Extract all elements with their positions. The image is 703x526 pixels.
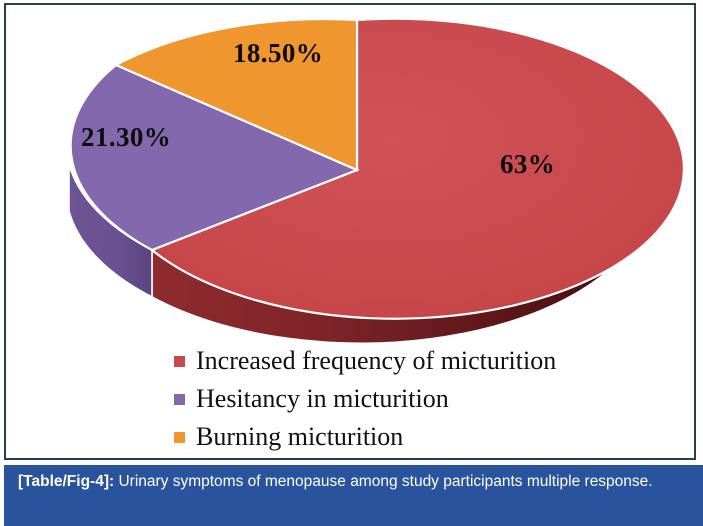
legend-item-increased-frequency[interactable]: Increased frequency of micturition bbox=[174, 342, 644, 380]
legend-label-burning: Burning micturition bbox=[196, 424, 403, 450]
slice-label-hesitancy: 21.30% bbox=[81, 122, 171, 153]
chart-legend: Increased frequency of micturition Hesit… bbox=[174, 342, 644, 456]
legend-label-increased-frequency: Increased frequency of micturition bbox=[196, 348, 556, 374]
legend-swatch-icon-increased-frequency bbox=[174, 356, 185, 367]
figure-caption-bar: [Table/Fig-4]: Urinary symptoms of menop… bbox=[4, 465, 703, 526]
figure-caption: [Table/Fig-4]: Urinary symptoms of menop… bbox=[18, 472, 689, 492]
pie-chart: 63% 21.30% 18.50% bbox=[6, 5, 694, 345]
legend-item-burning[interactable]: Burning micturition bbox=[174, 418, 644, 456]
slice-label-burning: 18.50% bbox=[233, 38, 323, 69]
legend-label-hesitancy: Hesitancy in micturition bbox=[196, 386, 449, 412]
chart-frame: 63% 21.30% 18.50% Increased frequency of… bbox=[4, 3, 696, 460]
figure-caption-body: Urinary symptoms of menopause among stud… bbox=[114, 473, 652, 490]
figure-root: 63% 21.30% 18.50% Increased frequency of… bbox=[0, 0, 703, 526]
legend-swatch-icon-hesitancy bbox=[174, 394, 185, 405]
pie-chart-svg bbox=[6, 5, 694, 345]
legend-item-hesitancy[interactable]: Hesitancy in micturition bbox=[174, 380, 644, 418]
slice-label-increased-frequency: 63% bbox=[500, 149, 555, 180]
figure-caption-tag: [Table/Fig-4]: bbox=[18, 473, 114, 490]
legend-swatch-icon-burning bbox=[174, 432, 185, 443]
